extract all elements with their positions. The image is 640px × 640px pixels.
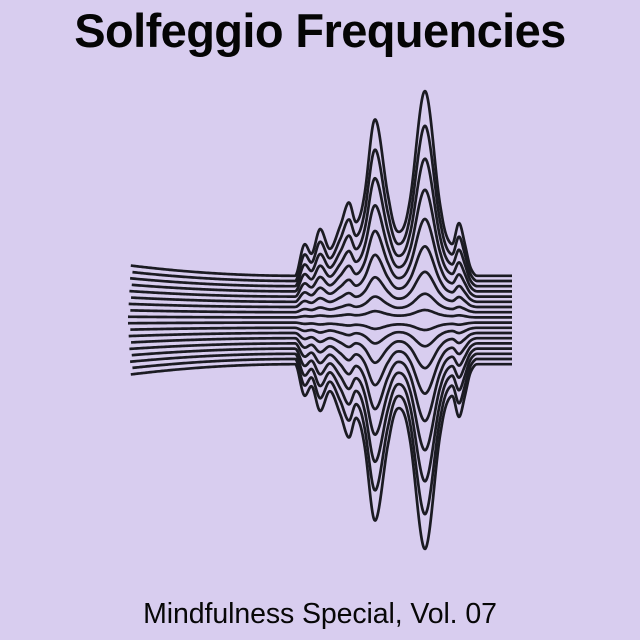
album-subtitle: Mindfulness Special, Vol. 07 bbox=[0, 599, 640, 630]
page-title: Solfeggio Frequencies bbox=[0, 6, 640, 55]
album-cover: Solfeggio Frequencies Mindfulness Specia… bbox=[0, 0, 640, 640]
waveform-line-group bbox=[128, 91, 512, 549]
audio-waveform-graphic bbox=[0, 0, 640, 640]
waveform-line bbox=[130, 294, 512, 312]
waveform-line bbox=[130, 328, 512, 346]
